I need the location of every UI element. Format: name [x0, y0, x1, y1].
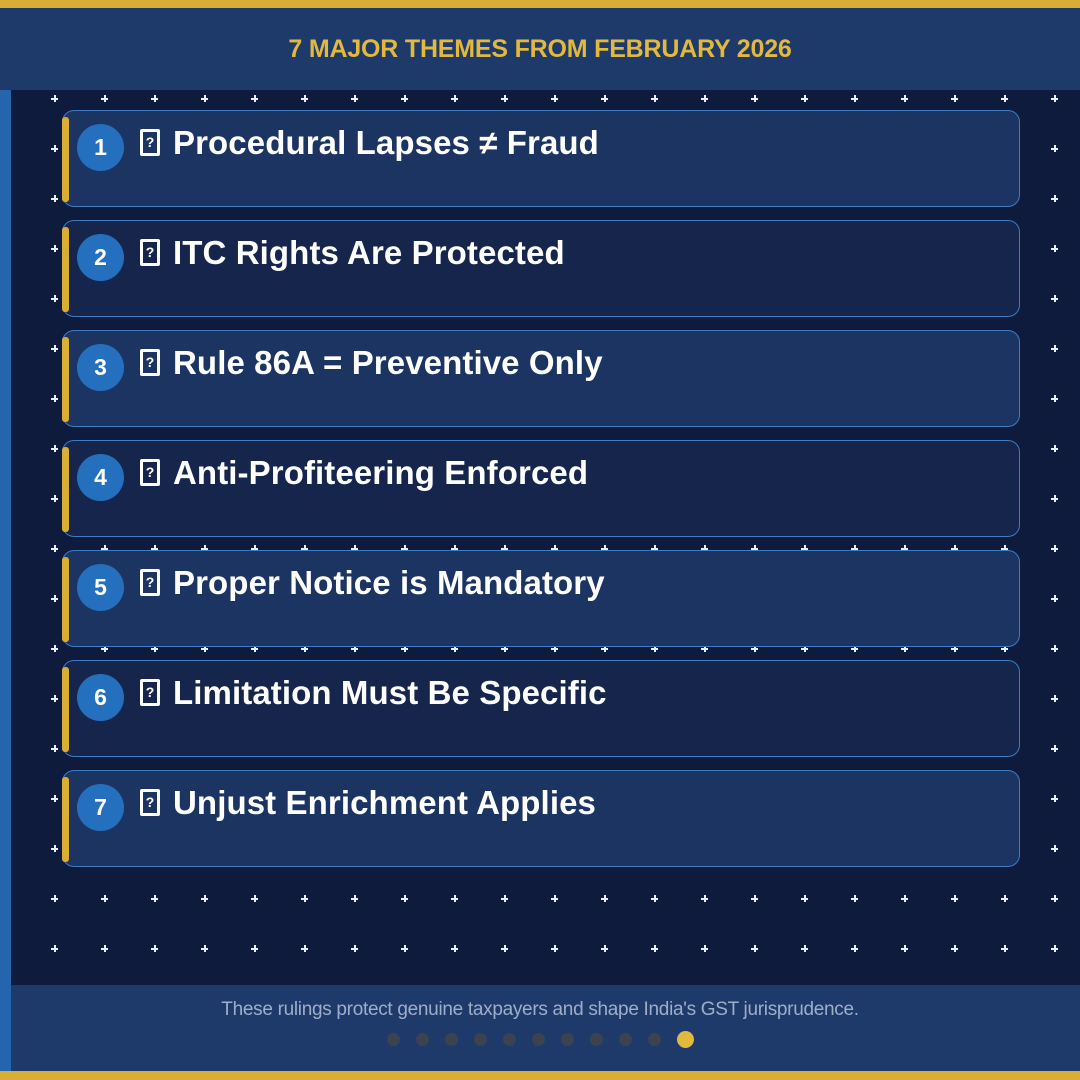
missing-glyph-icon: ?: [140, 679, 160, 706]
card-title: Proper Notice is Mandatory: [173, 564, 605, 602]
card-number-badge: 3: [77, 344, 124, 391]
missing-glyph-icon: ?: [140, 459, 160, 486]
theme-card[interactable]: 7?Unjust Enrichment Applies: [62, 770, 1020, 867]
card-title: Procedural Lapses ≠ Fraud: [173, 124, 599, 162]
page-title: 7 MAJOR THEMES FROM FEBRUARY 2026: [288, 35, 791, 64]
progress-dot[interactable]: [445, 1033, 458, 1046]
progress-dot-active[interactable]: [677, 1031, 694, 1048]
card-title: Limitation Must Be Specific: [173, 674, 607, 712]
card-number-badge: 5: [77, 564, 124, 611]
card-title: Unjust Enrichment Applies: [173, 784, 596, 822]
progress-dot[interactable]: [416, 1033, 429, 1046]
card-accent-bar: [62, 117, 69, 202]
card-accent-bar: [62, 667, 69, 752]
card-number-badge: 7: [77, 784, 124, 831]
top-gold-bar: [0, 0, 1080, 8]
progress-dot[interactable]: [619, 1033, 632, 1046]
missing-glyph-icon: ?: [140, 569, 160, 596]
progress-dot[interactable]: [387, 1033, 400, 1046]
footer-bar: These rulings protect genuine taxpayers …: [0, 985, 1080, 1071]
card-accent-bar: [62, 557, 69, 642]
card-accent-bar: [62, 447, 69, 532]
theme-card[interactable]: 3?Rule 86A = Preventive Only: [62, 330, 1020, 427]
theme-card[interactable]: 2?ITC Rights Are Protected: [62, 220, 1020, 317]
progress-dot[interactable]: [648, 1033, 661, 1046]
card-title: ITC Rights Are Protected: [173, 234, 565, 272]
slide-canvas: 7 MAJOR THEMES FROM FEBRUARY 2026 1?Proc…: [0, 0, 1080, 1080]
progress-dot[interactable]: [590, 1033, 603, 1046]
header-bar: 7 MAJOR THEMES FROM FEBRUARY 2026: [0, 8, 1080, 90]
missing-glyph-icon: ?: [140, 789, 160, 816]
card-title: Anti-Profiteering Enforced: [173, 454, 588, 492]
card-number-badge: 2: [77, 234, 124, 281]
card-accent-bar: [62, 227, 69, 312]
progress-dots[interactable]: [0, 1031, 1080, 1048]
card-number-badge: 1: [77, 124, 124, 171]
progress-dot[interactable]: [503, 1033, 516, 1046]
card-accent-bar: [62, 337, 69, 422]
missing-glyph-icon: ?: [140, 349, 160, 376]
theme-card[interactable]: 6?Limitation Must Be Specific: [62, 660, 1020, 757]
card-number-badge: 4: [77, 454, 124, 501]
theme-card[interactable]: 4?Anti-Profiteering Enforced: [62, 440, 1020, 537]
missing-glyph-icon: ?: [140, 239, 160, 266]
card-title: Rule 86A = Preventive Only: [173, 344, 603, 382]
progress-dot[interactable]: [474, 1033, 487, 1046]
bottom-gold-bar: [0, 1071, 1080, 1080]
progress-dot[interactable]: [532, 1033, 545, 1046]
theme-card-list: 1?Procedural Lapses ≠ Fraud2?ITC Rights …: [0, 90, 1080, 995]
footer-caption: These rulings protect genuine taxpayers …: [0, 999, 1080, 1021]
missing-glyph-icon: ?: [140, 129, 160, 156]
card-number-badge: 6: [77, 674, 124, 721]
progress-dot[interactable]: [561, 1033, 574, 1046]
left-blue-stripe: [0, 90, 11, 1080]
theme-card[interactable]: 5?Proper Notice is Mandatory: [62, 550, 1020, 647]
card-accent-bar: [62, 777, 69, 862]
theme-card[interactable]: 1?Procedural Lapses ≠ Fraud: [62, 110, 1020, 207]
